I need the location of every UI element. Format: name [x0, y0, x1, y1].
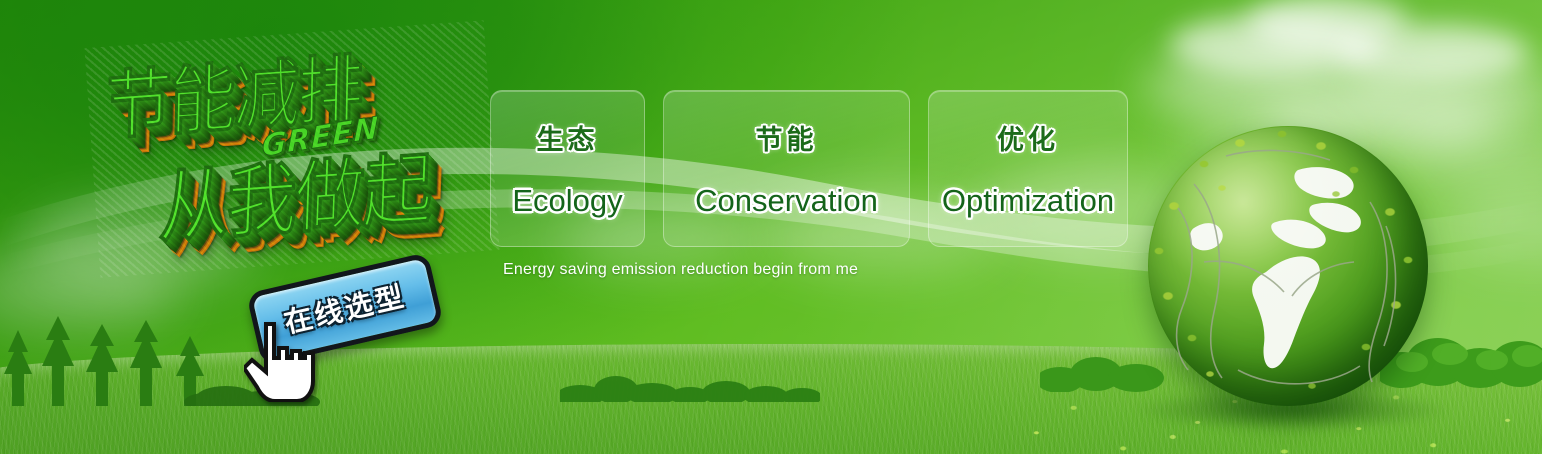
feature-card-conservation[interactable]: 节能 Conservation [663, 90, 910, 247]
feature-card-conservation-cn: 节能 [756, 118, 818, 157]
feature-cards: 生态 Ecology 节能 Conservation 优化 Optimizati… [490, 90, 1128, 247]
feature-card-optimization-en: Optimization [942, 183, 1114, 219]
globe-sphere [1148, 126, 1428, 406]
feature-card-ecology-cn: 生态 [537, 118, 599, 157]
feature-card-ecology[interactable]: 生态 Ecology [490, 90, 645, 247]
hero-title: 节能减排 GREEN 从我做起 [84, 20, 499, 277]
hero-title-line2: 从我做起 [157, 126, 432, 259]
hand-pointer-icon [244, 318, 322, 402]
leafy-globe-illustration [1148, 126, 1428, 406]
feature-card-conservation-en: Conservation [695, 183, 878, 219]
feature-card-optimization-cn: 优化 [997, 118, 1059, 157]
green-energy-banner: 节能减排 GREEN 从我做起 在线选型 生态 Ecology 节能 Conse… [0, 0, 1542, 454]
feature-card-ecology-en: Ecology [512, 183, 622, 219]
tagline: Energy saving emission reduction begin f… [503, 261, 858, 279]
feature-card-optimization[interactable]: 优化 Optimization [928, 90, 1128, 247]
